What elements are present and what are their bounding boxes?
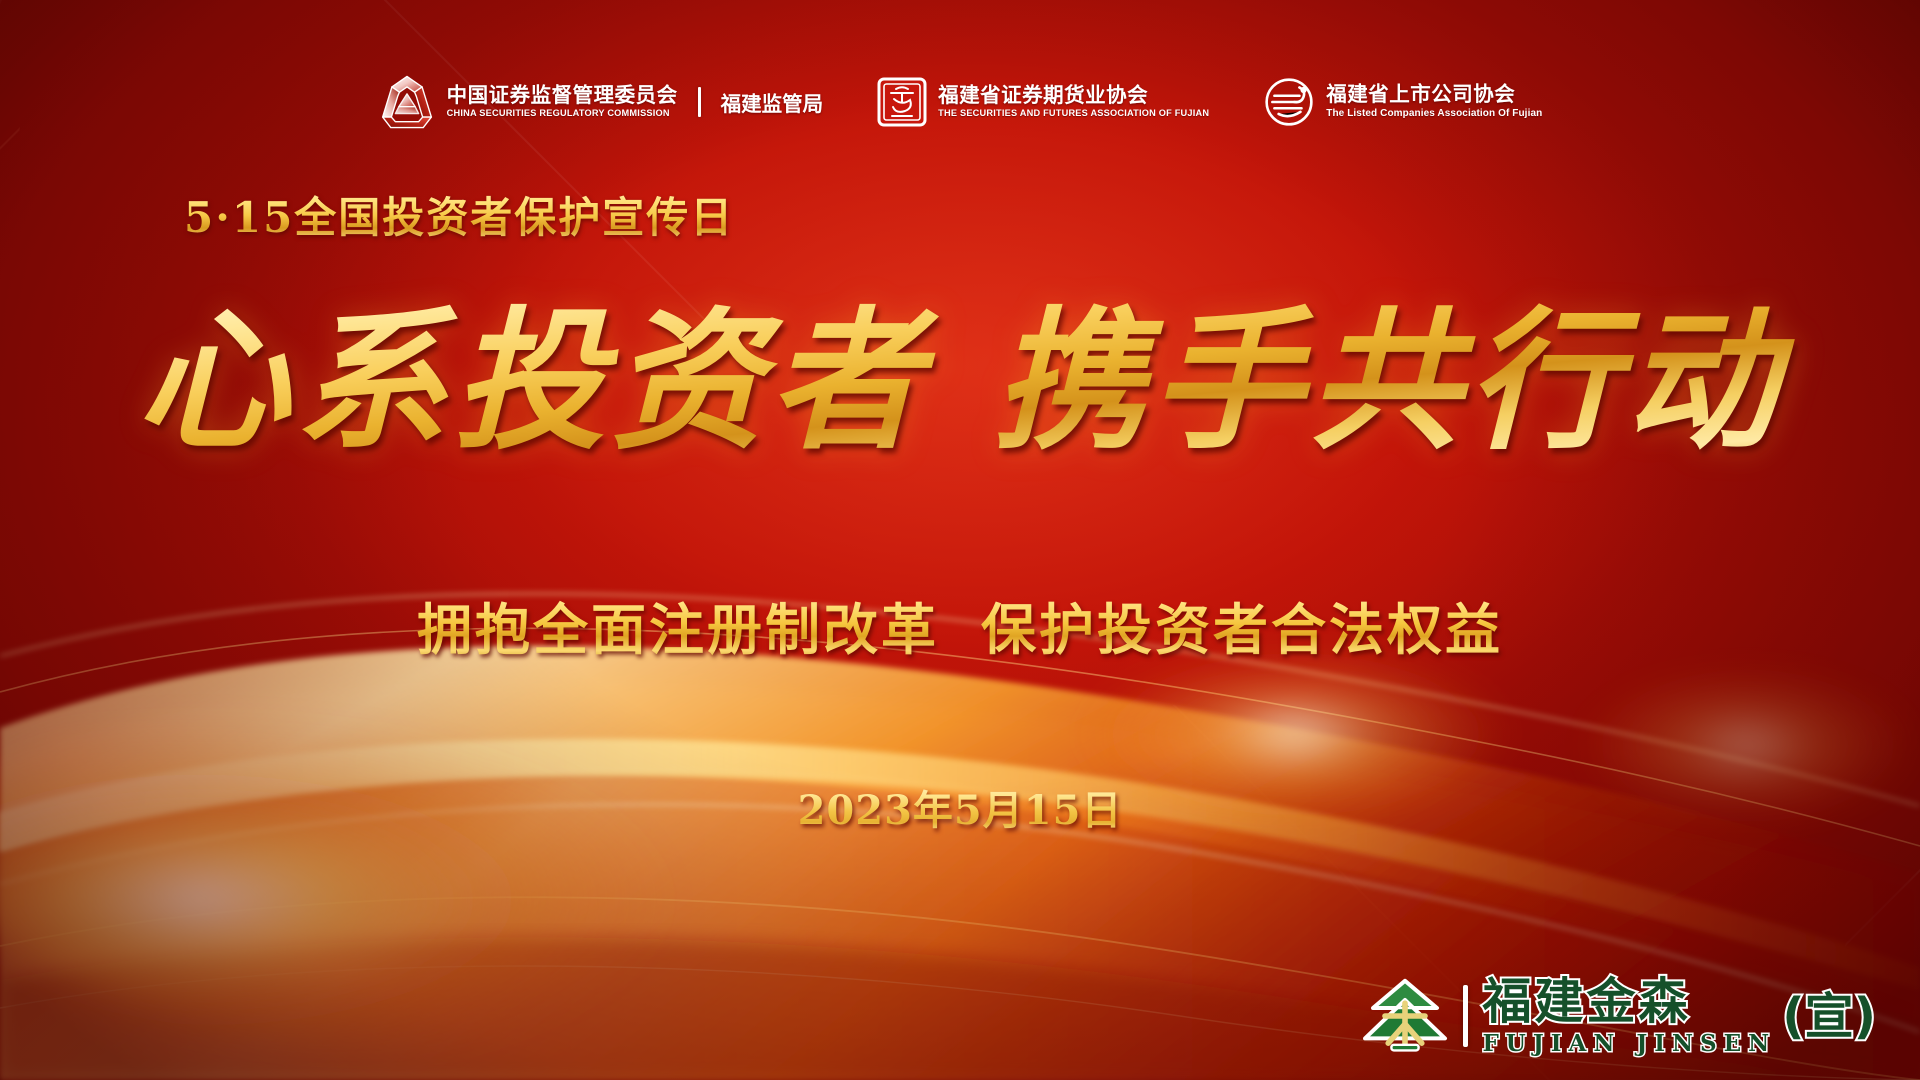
logo-fujian-securities-futures-association: 福建省证券期货业协会 THE SECURITIES AND FUTURES AS… xyxy=(877,77,1209,127)
logo-csrc: 中国证券监督管理委员会 CHINA SECURITIES REGULATORY … xyxy=(378,74,824,130)
logo-sfa-en: THE SECURITIES AND FUTURES ASSOCIATION O… xyxy=(938,108,1209,119)
fujian-listed-companies-circle-icon xyxy=(1263,76,1315,128)
logo-csrc-divider xyxy=(698,87,701,117)
secondary-slogan: 拥抱全面注册制改革保护投资者合法权益 xyxy=(0,585,1920,665)
corporate-name-suffix: (宣) xyxy=(1782,992,1876,1041)
csrc-triangle-knot-icon xyxy=(378,74,436,130)
poster-canvas: 中国证券监督管理委员会 CHINA SECURITIES REGULATORY … xyxy=(0,0,1920,1080)
fujian-securities-seal-icon xyxy=(877,77,927,127)
corporate-logo-textwrap: 福建金森 FUJIAN JINSEN xyxy=(1482,977,1776,1055)
corporate-logo-divider xyxy=(1463,985,1468,1047)
event-date: 2023年5月15日 xyxy=(0,778,1920,836)
main-slogan-part2: 携手共行动 xyxy=(993,291,1783,470)
logo-sfa-cn: 福建省证券期货业协会 xyxy=(938,85,1209,107)
logo-csrc-bureau: 福建监管局 xyxy=(721,87,824,117)
corporate-name-en: FUJIAN JINSEN xyxy=(1482,1032,1776,1055)
logo-csrc-cn: 中国证券监督管理委员会 xyxy=(447,85,678,107)
secondary-slogan-part2: 保护投资者合法权益 xyxy=(981,598,1503,662)
campaign-kicker: 5·15全国投资者保护宣传日 xyxy=(184,184,734,245)
corporate-logo-fujian-jinsen: 福建金森 FUJIAN JINSEN (宣) xyxy=(1361,976,1876,1056)
logo-csrc-en: CHINA SECURITIES REGULATORY COMMISSION xyxy=(447,108,678,119)
corporate-logo-text-row: 福建金森 FUJIAN JINSEN (宣) xyxy=(1482,977,1876,1055)
background-chevron-pattern xyxy=(0,0,1920,1080)
corporate-name-cn: 福建金森 xyxy=(1482,977,1690,1026)
main-slogan: 心系投资者携手共行动 xyxy=(0,296,1920,466)
secondary-slogan-part1: 拥抱全面注册制改革 xyxy=(417,598,939,662)
logo-fujian-listed-companies-association: 福建省上市公司协会 The Listed Companies Associati… xyxy=(1263,76,1542,128)
logo-lca-cn: 福建省上市公司协会 xyxy=(1326,84,1542,106)
organization-logo-bar: 中国证券监督管理委员会 CHINA SECURITIES REGULATORY … xyxy=(0,74,1920,130)
logo-lca-en: The Listed Companies Association Of Fuji… xyxy=(1326,108,1542,120)
pine-tree-gold-icon xyxy=(1361,976,1449,1056)
main-slogan-part1: 心系投资者 xyxy=(137,291,927,470)
